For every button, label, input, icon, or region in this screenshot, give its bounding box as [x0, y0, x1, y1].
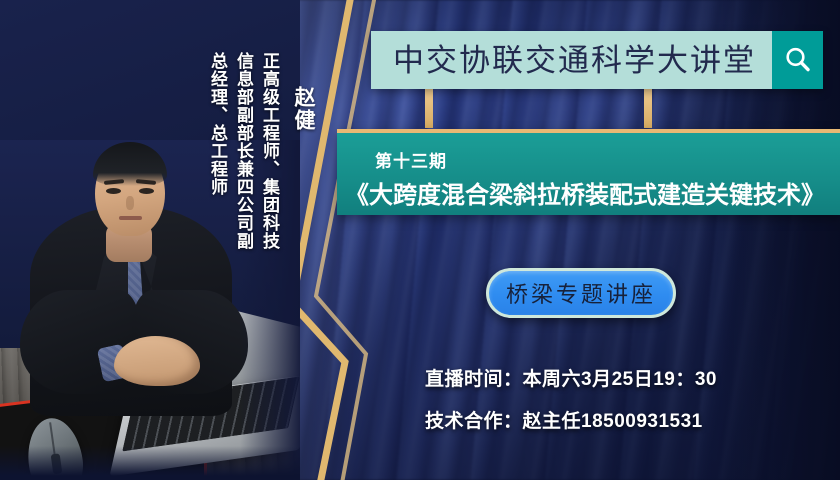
photo-eye-right — [139, 188, 154, 194]
webinar-poster: 赵健 正高级工程师、集团科技 信息部副部长兼四公司副 总经理、总工程师 中交协联… — [0, 0, 840, 480]
page-title: 中交协联交通科学大讲堂 — [393, 45, 756, 76]
speaker-name: 赵健 — [288, 86, 318, 132]
banner-connector-left — [425, 88, 433, 128]
search-button[interactable] — [772, 31, 823, 89]
photo-mouth — [119, 216, 142, 220]
banner-connector-right — [644, 88, 652, 128]
speaker-credential-line-3: 总经理、总工程师 — [205, 52, 230, 196]
category-pill-button[interactable]: 桥梁专题讲座 — [486, 268, 676, 318]
title-bar: 中交协联交通科学大讲堂 — [371, 31, 772, 89]
episode-label: 第十三期 — [375, 147, 447, 172]
category-pill-label: 桥梁专题讲座 — [506, 277, 656, 309]
subtitle-banner: 第十三期 《大跨度混合梁斜拉桥装配式建造关键技术》 — [337, 129, 840, 215]
speaker-credential-line-1: 正高级工程师、集团科技 — [257, 52, 282, 250]
photo-nose — [126, 196, 134, 210]
title-banner: 中交协联交通科学大讲堂 — [371, 31, 823, 89]
photo-bottom-fade — [0, 446, 300, 480]
search-icon — [783, 45, 813, 75]
contact-text: 技术合作：赵主任18500931531 — [425, 406, 703, 433]
broadcast-time-text: 直播时间：本周六3月25日19：30 — [425, 364, 717, 391]
topic-title: 《大跨度混合梁斜拉桥装配式建造关键技术》 — [345, 175, 825, 210]
speaker-credential-line-2: 信息部副部长兼四公司副 — [231, 52, 256, 250]
photo-eye-left — [106, 188, 121, 194]
